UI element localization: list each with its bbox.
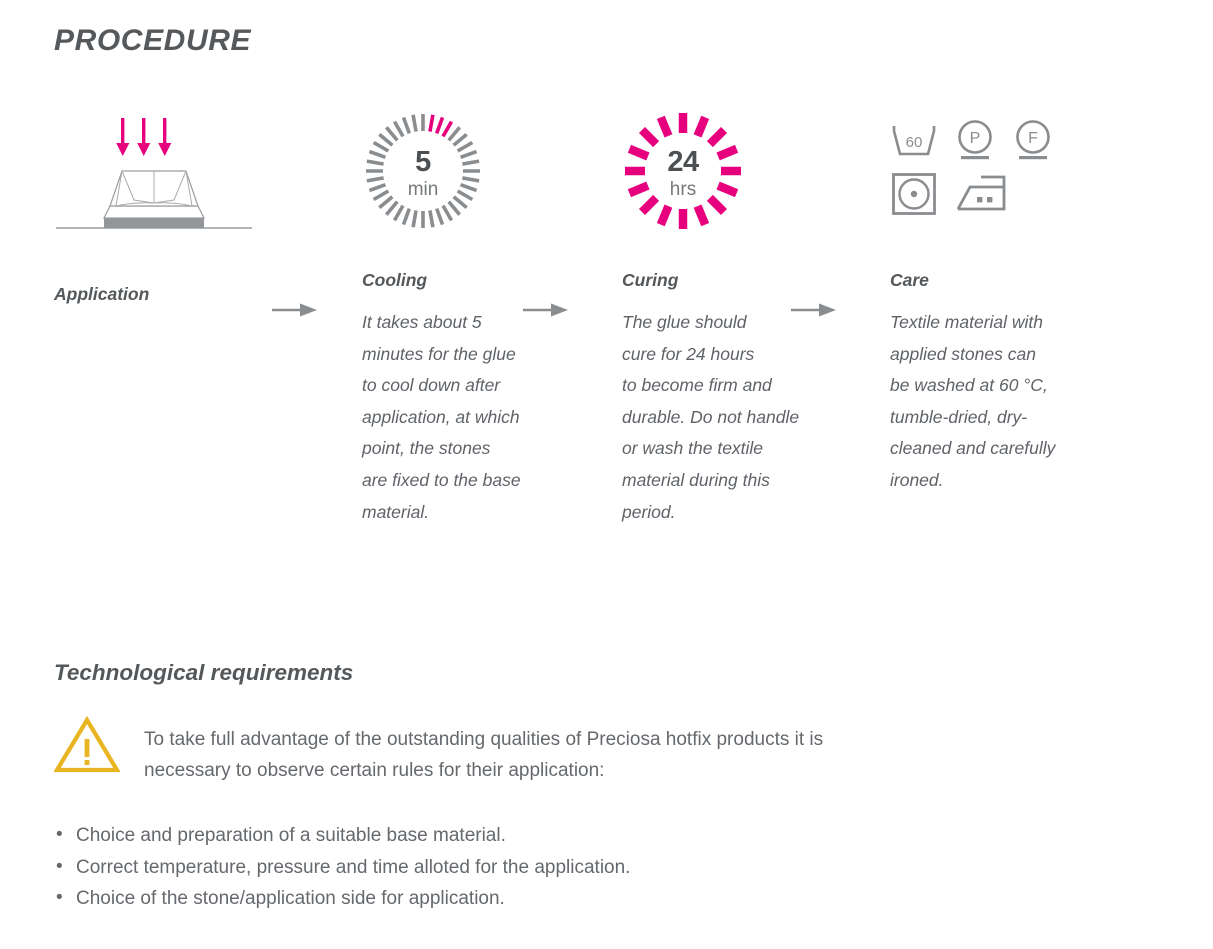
dryclean-p-icon: P — [954, 118, 996, 162]
cooling-unit: min — [362, 180, 484, 199]
tech-requirement-bullet: Correct temperature, pressure and time a… — [54, 852, 1154, 884]
tech-requirements-note-text: To take full advantage of the outstandin… — [144, 716, 823, 786]
cooling-dial-icon: 5 min — [362, 110, 484, 237]
hotfix-stone-pressed-icon — [54, 110, 254, 245]
tumble-dry-low-icon — [890, 172, 938, 216]
procedure-step-curing: 24 hrs Curing The glue should cure for 2… — [622, 110, 857, 528]
cooling-value: 5 — [362, 148, 484, 177]
arrow-right-icon — [791, 302, 837, 318]
tech-requirements-note: To take full advantage of the outstandin… — [54, 716, 1154, 786]
iron-two-dots-icon — [954, 172, 1010, 216]
procedure-step-care: 60 P F — [890, 110, 1105, 497]
dryclean-p-label: P — [970, 130, 981, 147]
page-title: PROCEDURE — [54, 24, 251, 58]
care-symbols-group: 60 P F — [890, 118, 1070, 226]
step-body-cooling: It takes about 5 minutes for the glue to… — [362, 307, 592, 528]
tech-requirement-bullet: Choice and preparation of a suitable bas… — [54, 820, 1154, 852]
tech-requirements-bullet-list: Choice and preparation of a suitable bas… — [54, 820, 1154, 915]
care-symbols-row-2 — [890, 172, 1070, 216]
wash-temperature-label: 60 — [906, 134, 923, 151]
step-label-care: Care — [890, 270, 1105, 291]
warning-triangle-icon — [54, 716, 120, 774]
curing-unit: hrs — [622, 180, 744, 199]
procedure-section: Application 5 min Cooling It takes about… — [0, 110, 1213, 580]
tech-requirements-title: Technological requirements — [54, 660, 1154, 686]
cooling-icon-box: 5 min — [362, 110, 592, 270]
curing-icon-box: 24 hrs — [622, 110, 857, 270]
arrow-right-icon — [272, 302, 318, 318]
tech-requirement-bullet: Choice of the stone/application side for… — [54, 883, 1154, 915]
arrow-right-icon — [523, 302, 569, 318]
curing-burst-icon: 24 hrs — [622, 110, 744, 237]
procedure-step-cooling: 5 min Cooling It takes about 5 minutes f… — [362, 110, 592, 528]
wash-60-icon: 60 — [890, 118, 938, 162]
curing-dial-center: 24 hrs — [622, 148, 744, 199]
application-icon-box — [54, 110, 304, 270]
step-body-curing: The glue should cure for 24 hours to bec… — [622, 307, 857, 528]
procedure-step-application: Application — [54, 110, 304, 321]
dryclean-f-icon: F — [1012, 118, 1054, 162]
step-label-curing: Curing — [622, 270, 857, 291]
cooling-dial-center: 5 min — [362, 148, 484, 199]
step-label-application: Application — [54, 284, 304, 305]
step-body-care: Textile material with applied stones can… — [890, 307, 1105, 497]
step-label-cooling: Cooling — [362, 270, 592, 291]
care-icon-box: 60 P F — [890, 110, 1105, 270]
technological-requirements-section: Technological requirements To take full … — [54, 660, 1154, 931]
curing-value: 24 — [622, 148, 744, 177]
dryclean-f-label: F — [1028, 130, 1038, 147]
care-symbols-row-1: 60 P F — [890, 118, 1070, 162]
